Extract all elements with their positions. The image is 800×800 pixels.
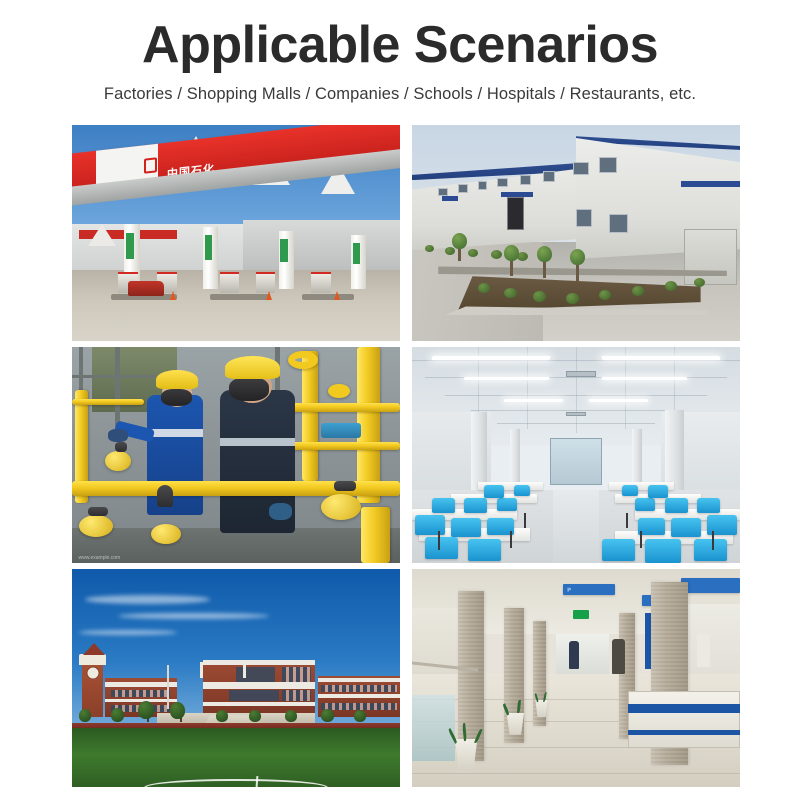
window-row	[282, 690, 312, 701]
shrub	[665, 281, 677, 291]
garage-door	[684, 229, 736, 285]
floor-tile-line	[412, 773, 740, 774]
valve-body	[151, 524, 181, 544]
valve-body	[321, 494, 361, 520]
young-tree	[510, 258, 513, 276]
traffic-cone-3	[334, 291, 340, 300]
ceiling-light-strip	[431, 356, 550, 360]
school-scene	[72, 569, 400, 787]
scenario-image-gas-station: 中国石化 SINOPEC Sinopec gas	[72, 125, 400, 341]
person-walking	[569, 641, 579, 669]
vertical-gas-pipe	[361, 507, 391, 563]
nurses-station-counter	[628, 691, 740, 748]
structural-column	[665, 410, 685, 492]
canteen-chair	[635, 498, 655, 511]
gas-station-scene: 中国石化 SINOPEC	[72, 125, 400, 341]
window	[543, 171, 555, 181]
ceiling-grid-line	[576, 347, 577, 433]
far-glass-doors	[550, 438, 602, 486]
canteen-chair	[484, 485, 504, 498]
canteen-chair	[697, 498, 720, 513]
page-subtitle: Factories / Shopping Malls / Companies /…	[0, 85, 800, 104]
pergola-post	[200, 663, 203, 678]
window-row	[282, 667, 312, 682]
ceiling-direction-sign[interactable]: 护	[563, 584, 615, 595]
gas-plant-scene: www.example.com	[72, 347, 400, 563]
nurses-station-sign[interactable]	[681, 578, 740, 593]
pergola-beam	[200, 662, 246, 665]
scenario-image-hospital-corridor: 护	[412, 569, 740, 787]
canteen-chair	[468, 539, 501, 561]
campus-tree	[111, 708, 124, 722]
pipe-elbow-flange	[157, 485, 173, 507]
building-cornice	[203, 702, 315, 706]
counter-blue-trim	[628, 704, 740, 713]
young-tree	[576, 262, 579, 281]
canteen-chair	[497, 498, 517, 511]
building-cornice	[203, 682, 315, 689]
hard-hat-icon	[225, 356, 281, 380]
ceiling-air-vent	[566, 412, 586, 416]
canteen-chair	[415, 515, 445, 534]
window-bank	[229, 690, 278, 701]
respirator-mask-icon	[161, 389, 192, 406]
counter-blue-trim	[628, 730, 740, 734]
window	[599, 157, 617, 172]
canteen-chair	[671, 518, 701, 537]
table-leg	[524, 513, 526, 528]
scenario-image-factory-building: Industrial factory warehouse with blue r…	[412, 125, 740, 341]
garage-awning	[681, 181, 740, 186]
vehicle-at-pump	[128, 281, 164, 296]
canteen-chair	[665, 498, 688, 513]
flag-pole	[167, 665, 169, 709]
window	[478, 181, 488, 190]
staff-member	[697, 634, 710, 667]
horizontal-gas-pipe	[288, 442, 400, 450]
pergola-post	[243, 663, 246, 678]
shrub	[632, 286, 644, 296]
young-tree	[458, 246, 461, 261]
page-header: Applicable Scenarios Factories / Shoppin…	[0, 0, 800, 104]
campus-tree	[138, 701, 154, 719]
direction-sign-label: 护	[567, 587, 572, 593]
horizontal-gas-pipe	[72, 399, 144, 405]
worker-1-body	[147, 395, 203, 516]
hospital-scene: 护	[412, 569, 740, 787]
young-tree	[543, 259, 546, 278]
worker-2-hi-vis-stripe	[220, 438, 295, 447]
structural-column	[471, 412, 487, 490]
side-awning	[442, 196, 458, 200]
canteen-chair	[464, 498, 487, 513]
campus-tree	[216, 710, 228, 722]
canteen-chair	[602, 539, 635, 561]
campus-tree	[249, 710, 261, 722]
window	[573, 162, 589, 175]
structural-column	[510, 429, 520, 485]
canopy-column-4	[351, 235, 366, 289]
campus-tree	[79, 709, 91, 722]
traffic-cone-2	[266, 291, 272, 300]
factory-scene	[412, 125, 740, 341]
canteen-chair	[514, 485, 530, 496]
cloud	[118, 613, 269, 620]
cafeteria-scene	[412, 347, 740, 563]
hard-hat-icon	[156, 370, 199, 389]
canteen-chair	[638, 518, 664, 535]
fuel-pump-3	[220, 272, 240, 294]
ceiling-air-vent	[566, 371, 596, 377]
table-leg	[510, 531, 512, 548]
shrub	[504, 288, 517, 298]
window-row	[321, 685, 396, 692]
scenario-image-school-campus: School campus with red brick buildings, …	[72, 569, 400, 787]
ceiling-light-strip	[602, 356, 721, 360]
clock-tower-cap	[79, 654, 107, 665]
background-building-right	[243, 220, 400, 276]
canteen-chair	[432, 498, 455, 513]
window-row	[111, 690, 170, 697]
structural-column	[632, 429, 642, 485]
window	[458, 184, 468, 193]
clock-tower-roof	[83, 643, 105, 655]
table-leg	[640, 531, 642, 548]
valve-body	[105, 451, 131, 471]
image-watermark: www.example.com	[79, 555, 121, 561]
shrub	[694, 278, 705, 287]
field-centre-circle	[144, 779, 328, 787]
sports-field	[72, 728, 400, 787]
factory-entrance-door	[507, 197, 523, 229]
campus-tree	[354, 710, 366, 722]
canteen-chair	[645, 539, 681, 563]
vertical-gas-pipe	[357, 347, 380, 503]
valve-flange	[115, 442, 127, 452]
person-walking	[612, 639, 625, 674]
scenario-image-cafeteria: Large company cafeteria with white table…	[412, 347, 740, 563]
worker-2-glove	[269, 503, 292, 520]
canteen-chair	[622, 485, 638, 496]
shrub	[491, 250, 502, 259]
pump-island-2	[210, 294, 269, 300]
scenario-image-gas-plant-workers: www.example.com Two workers in hard hats…	[72, 347, 400, 563]
canopy-peak-far	[88, 224, 116, 246]
center-aisle	[553, 490, 599, 563]
canopy-column-3	[279, 231, 294, 289]
ceiling-light-strip	[504, 399, 564, 402]
shrub	[599, 290, 611, 300]
vertical-gas-pipe	[302, 351, 318, 481]
table-leg	[712, 531, 714, 550]
worker-1-glove	[108, 429, 128, 442]
valve-flange	[334, 481, 356, 491]
window	[438, 188, 448, 197]
page-title: Applicable Scenarios	[0, 18, 800, 73]
table-leg	[626, 513, 628, 528]
shrub	[468, 249, 478, 257]
horizontal-gas-pipe	[282, 403, 400, 412]
applicable-scenarios-page: Applicable Scenarios Factories / Shoppin…	[0, 0, 800, 800]
valve-handwheel	[328, 384, 350, 398]
respirator-mask-icon	[229, 377, 268, 401]
scenario-image-grid: 中国石化 SINOPEC Sinopec gas	[72, 125, 728, 786]
table-leg	[438, 531, 440, 550]
canteen-chair	[425, 537, 458, 559]
valve-flange	[88, 507, 108, 516]
blue-equipment-box	[321, 423, 360, 438]
building-cornice	[318, 694, 400, 698]
canteen-chair	[648, 485, 668, 498]
campus-tree	[285, 710, 297, 722]
ceiling-light-strip	[589, 399, 649, 402]
window	[520, 175, 531, 185]
window	[609, 214, 629, 233]
canopy-column-2	[203, 227, 218, 290]
plant-floor	[72, 528, 400, 563]
campus-tree	[321, 709, 334, 722]
canteen-chair	[694, 539, 727, 561]
building-cornice	[318, 678, 400, 682]
fuel-pump-5	[311, 272, 331, 294]
field-marking-line	[255, 776, 258, 787]
shrub	[445, 247, 455, 255]
window	[576, 209, 592, 226]
traffic-cone-1	[170, 291, 176, 300]
emergency-exit-sign-icon	[573, 610, 589, 619]
window	[497, 178, 507, 188]
canteen-chair	[451, 518, 481, 537]
window-row	[321, 703, 396, 710]
pump-island-3	[302, 294, 354, 300]
cloud	[85, 595, 210, 604]
sinopec-logo-icon	[144, 158, 157, 174]
worker-1-hi-vis-stripe	[147, 429, 203, 437]
